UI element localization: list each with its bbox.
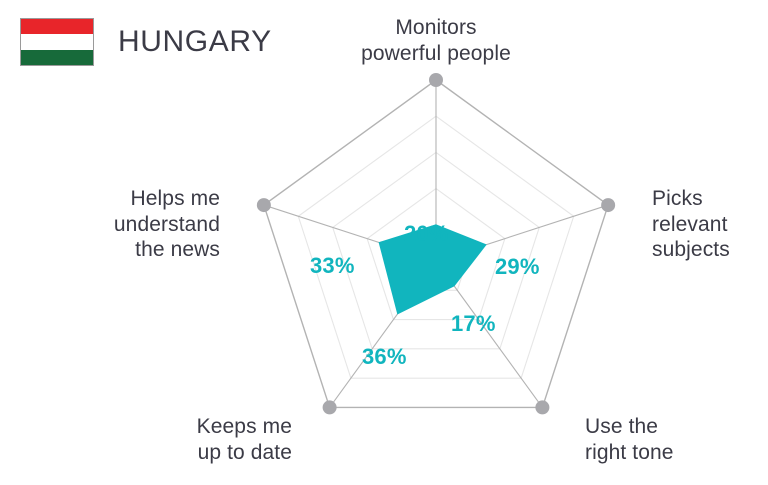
radar-axis-dot-2 bbox=[535, 400, 549, 414]
radar-axis-dot-4 bbox=[257, 198, 271, 212]
data-value-use-the-right-tone: 17% bbox=[451, 311, 496, 337]
radar-axis-dot-0 bbox=[429, 73, 443, 87]
radar-chart: Monitors powerful people Picks relevant … bbox=[0, 0, 768, 485]
radar-axis-dot-3 bbox=[323, 400, 337, 414]
data-value-helps-me-understand-the-news: 33% bbox=[310, 253, 355, 279]
data-value-picks-relevant-subjects: 29% bbox=[495, 254, 540, 280]
axis-label-picks-relevant-subjects: Picks relevant subjects bbox=[652, 186, 768, 263]
axis-label-monitors-powerful-people: Monitors powerful people bbox=[336, 15, 536, 66]
axis-label-helps-me-understand-the-news: Helps me understand the news bbox=[84, 186, 220, 263]
axis-label-keeps-me-up-to-date: Keeps me up to date bbox=[116, 414, 292, 465]
data-value-monitors-powerful-people: 20% bbox=[404, 221, 449, 247]
axis-label-use-the-right-tone: Use the right tone bbox=[585, 414, 745, 465]
radar-axis-dot-1 bbox=[601, 198, 615, 212]
data-value-keeps-me-up-to-date: 36% bbox=[362, 344, 407, 370]
